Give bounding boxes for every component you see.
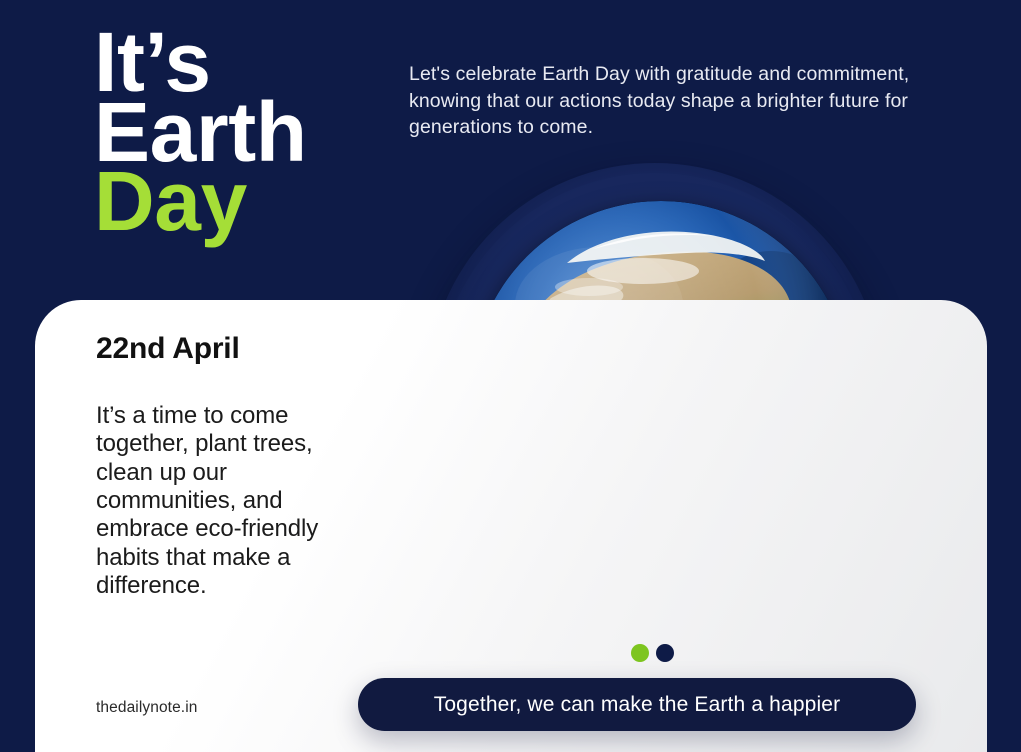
pagination-dots[interactable]	[631, 644, 674, 662]
page-dot-2[interactable]	[656, 644, 674, 662]
page-title: It’s Earth Day	[94, 28, 307, 237]
intro-paragraph: Let's celebrate Earth Day with gratitude…	[409, 61, 974, 141]
page-dot-1[interactable]	[631, 644, 649, 662]
tagline-banner[interactable]: Together, we can make the Earth a happie…	[358, 678, 916, 731]
event-date: 22nd April	[96, 332, 240, 366]
website-credit: thedailynote.in	[96, 699, 197, 717]
tagline-text: Together, we can make the Earth a happie…	[434, 693, 841, 717]
earth-day-poster: It’s Earth Day Let's celebrate Earth Day…	[0, 0, 1021, 752]
event-description: It’s a time to come together, plant tree…	[96, 402, 358, 600]
